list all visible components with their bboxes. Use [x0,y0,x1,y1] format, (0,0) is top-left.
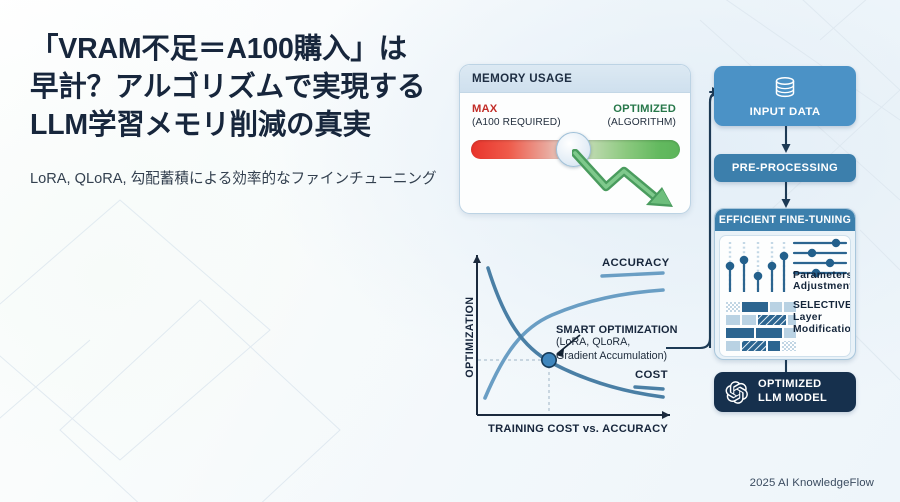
parameters-label-line2: Adjustments [793,281,851,292]
accuracy-legend-stroke [602,273,663,276]
llm-node-text: OPTIMIZED LLM MODEL [758,378,827,405]
cost-legend-stroke [635,387,663,389]
flow-node-label: INPUT DATA [750,106,821,118]
memory-usage-body: MAX (A100 REQUIRED) OPTIMIZED (ALGORITHM… [460,93,690,214]
max-sublabel: (A100 REQUIRED) [472,117,561,128]
chart-ylabel: OPTIMIZATION [464,294,476,380]
slide-canvas: 「VRAM不足＝A100購入」は 早計？アルゴリズムで実現する LLM学習メモリ… [0,0,900,502]
connector-pre-to-fine [780,182,792,209]
vertical-sliders-icon [726,242,789,292]
max-label: MAX [472,103,497,115]
chart-xlabel: TRAINING COST vs. ACCURACY [488,423,668,435]
selective-label-line1: SELECTIVE [793,300,851,311]
llm-node-line2: LLM MODEL [758,392,827,406]
flow-node-pre-processing[interactable]: PRE-PROCESSING [714,154,856,182]
fine-tuning-header: EFFICIENT FINE-TUNING [715,209,855,231]
memory-usage-card: MEMORY USAGE MAX (A100 REQUIRED) OPTIMIZ… [459,64,691,214]
memory-usage-header: MEMORY USAGE [460,65,690,93]
page-subtitle: LoRA, QLoRA, 勾配蓄積による効率的なファインチューニング [30,168,445,192]
page-title: 「VRAM不足＝A100購入」は 早計？アルゴリズムで実現する LLM学習メモリ… [30,31,450,144]
openai-logo-icon [724,380,749,405]
flow-node-fine-tuning[interactable]: EFFICIENT FINE-TUNING [714,208,856,360]
pipeline-flow: INPUT DATA PRE-PROCESSING EFFICIENT FINE… [714,66,860,426]
llm-node-line1: OPTIMIZED [758,378,827,392]
memory-usage-title: MEMORY USAGE [472,72,572,85]
fine-tuning-illustration: Parameters Adjustments SELECTIVE Layer M… [719,235,851,357]
parameters-label-line1: Parameters [793,270,851,281]
flow-node-llm-model[interactable]: OPTIMIZED LLM MODEL [714,372,856,412]
database-icon [772,75,798,101]
cost-label: COST [635,369,668,381]
layer-grid-icon [726,302,796,351]
fine-tuning-graphics [720,236,851,356]
selective-label-line3: Modification [793,324,851,335]
footer-credit: 2025 AI KnowledgeFlow [750,477,874,489]
selective-label-line2: Layer [793,312,822,323]
accuracy-label: ACCURACY [602,257,670,269]
smart-optimization-marker [542,353,556,367]
connector-input-to-pre [780,126,792,154]
flow-node-input-data[interactable]: INPUT DATA [714,66,856,126]
flow-node-label: PRE-PROCESSING [732,162,838,174]
